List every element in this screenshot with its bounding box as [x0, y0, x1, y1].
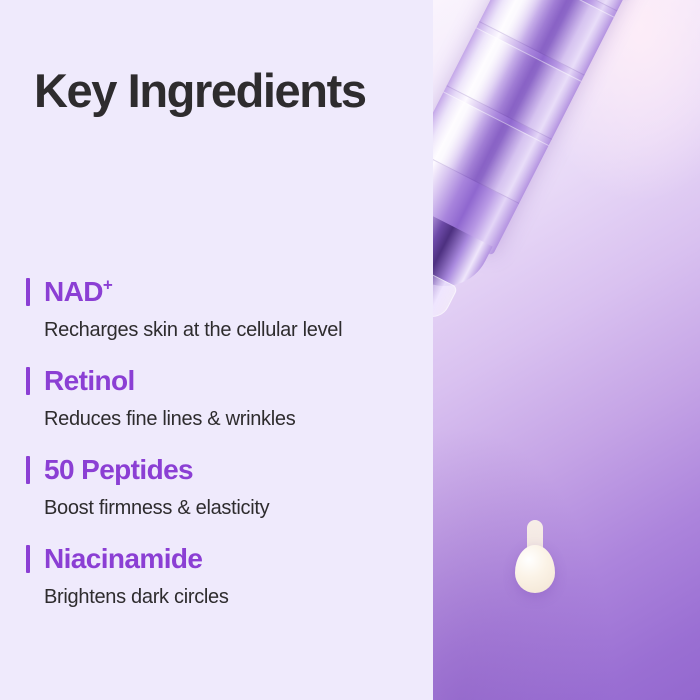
ingredient-heading: 50 Peptides	[26, 453, 426, 487]
ingredient-name-text: 50 Peptides	[44, 454, 193, 485]
ingredient-description: Reduces fine lines & wrinkles	[44, 407, 426, 431]
serum-droplet	[515, 545, 555, 593]
ingredient-description: Boost firmness & elasticity	[44, 496, 426, 520]
ingredient-heading: Retinol	[26, 364, 426, 398]
list-item: Niacinamide Brightens dark circles	[26, 542, 426, 609]
ingredient-name: NAD+	[44, 278, 112, 306]
ingredient-name-text: NAD	[44, 276, 103, 307]
ingredient-name: 50 Peptides	[44, 456, 193, 484]
ingredient-superscript: +	[103, 276, 112, 295]
accent-bar-icon	[26, 456, 30, 484]
ingredient-heading: Niacinamide	[26, 542, 426, 576]
tube-body: numbuzin NAD+	[433, 0, 665, 256]
ingredient-name-text: Retinol	[44, 365, 135, 396]
ingredient-description: Brightens dark circles	[44, 585, 426, 609]
ingredient-list: NAD+ Recharges skin at the cellular leve…	[26, 275, 426, 631]
product-image-panel: numbuzin NAD+	[433, 0, 700, 700]
list-item: NAD+ Recharges skin at the cellular leve…	[26, 275, 426, 342]
ingredient-name-text: Niacinamide	[44, 543, 202, 574]
list-item: Retinol Reduces fine lines & wrinkles	[26, 364, 426, 431]
key-ingredients-panel: Key Ingredients NAD+ Recharges skin at t…	[0, 0, 700, 700]
list-item: 50 Peptides Boost firmness & elasticity	[26, 453, 426, 520]
ingredient-heading: NAD+	[26, 275, 426, 309]
ingredient-name: Retinol	[44, 367, 135, 395]
product-tube: numbuzin NAD+	[433, 0, 665, 380]
accent-bar-icon	[26, 367, 30, 395]
ingredient-description: Recharges skin at the cellular level	[44, 318, 426, 342]
accent-bar-icon	[26, 545, 30, 573]
ingredient-name: Niacinamide	[44, 545, 202, 573]
page-title: Key Ingredients	[34, 66, 366, 115]
accent-bar-icon	[26, 278, 30, 306]
left-content-panel: Key Ingredients NAD+ Recharges skin at t…	[0, 0, 433, 700]
